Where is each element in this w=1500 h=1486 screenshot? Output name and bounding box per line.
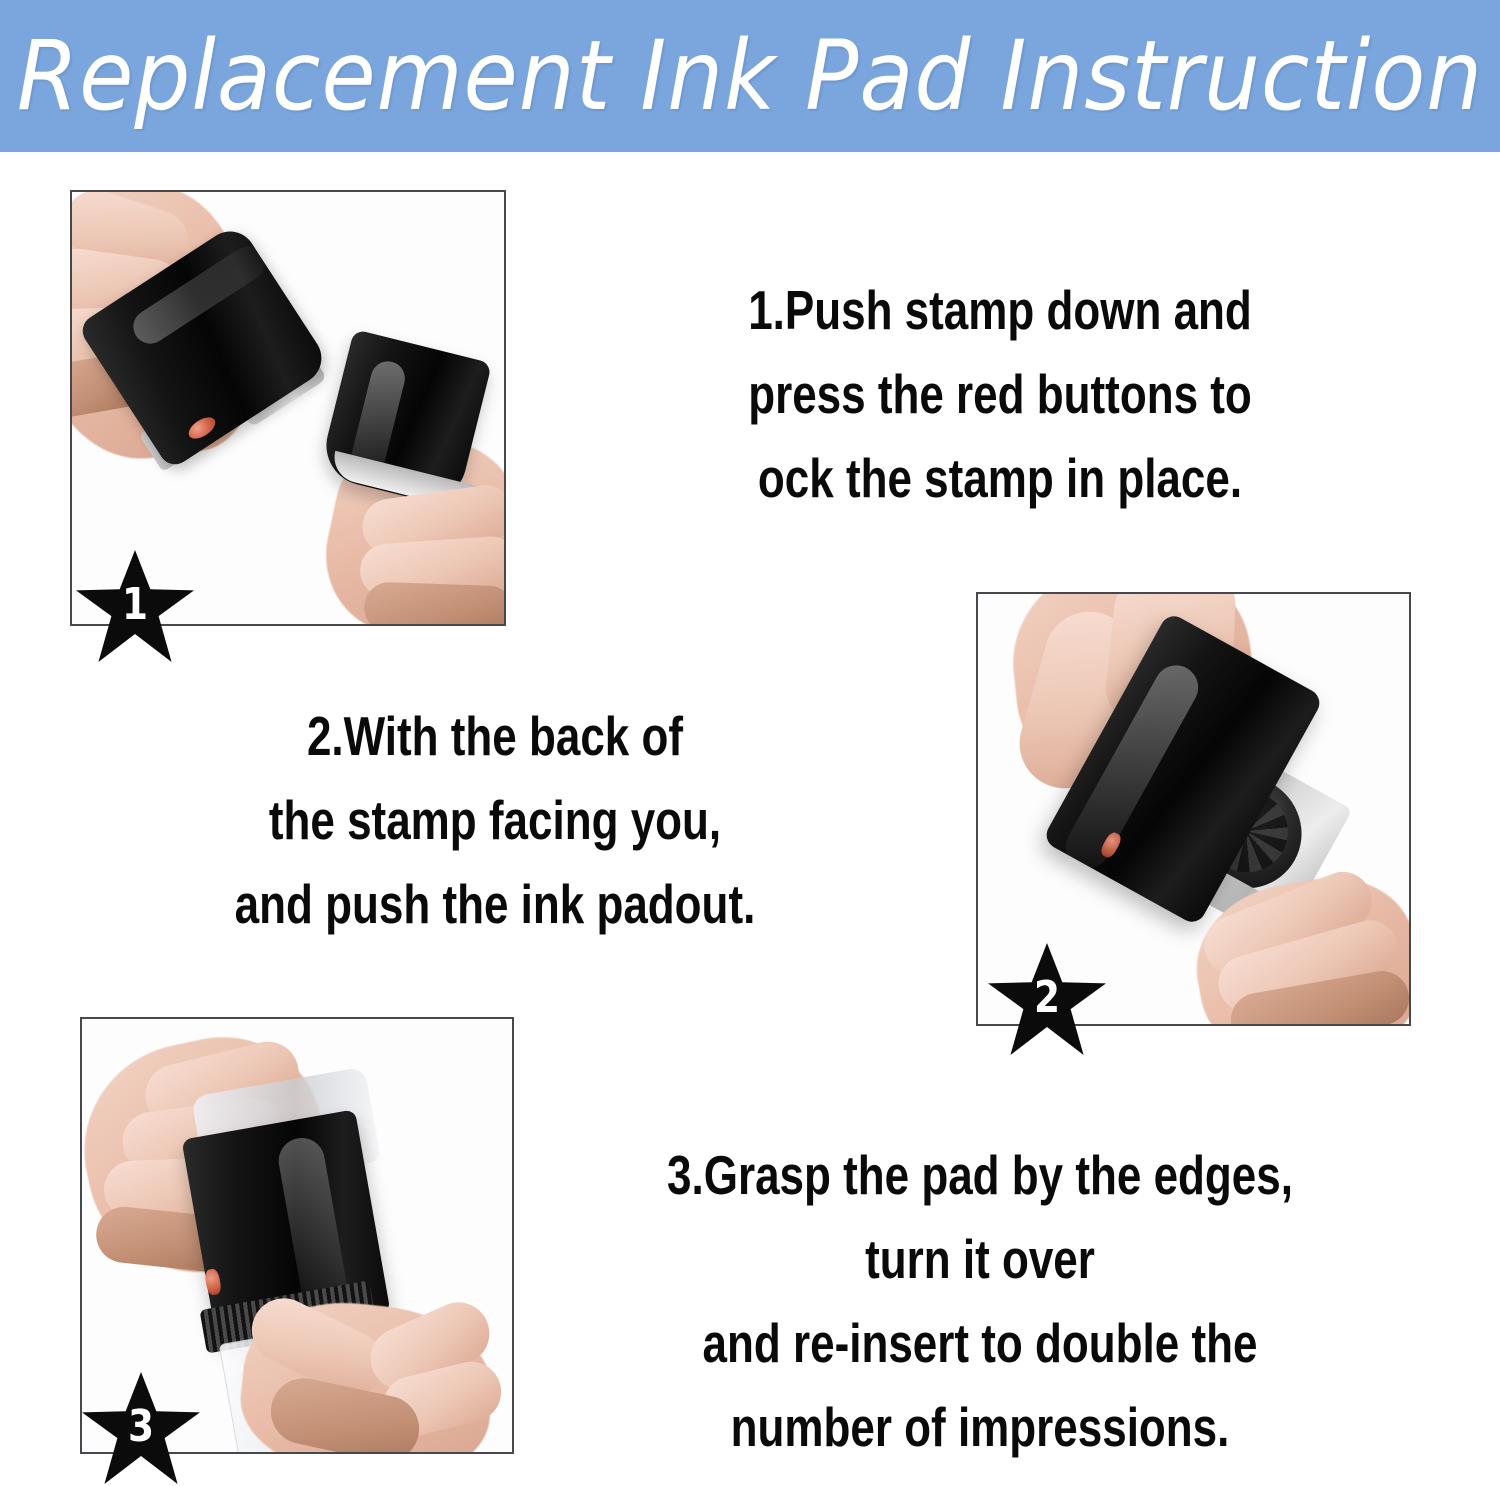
step-2-line-2: the stamp facing you, (143, 778, 847, 862)
step-3-line-3: and re-insert to double the (612, 1301, 1348, 1385)
finger (363, 581, 504, 624)
step-2-line-3: and push the ink padout. (143, 862, 847, 946)
step-2-line-1: 2.With the back of (143, 694, 847, 778)
instruction-sheet: Replacement Ink Pad Instruction (0, 0, 1500, 1486)
step-1-line-3: ock the stamp in place. (648, 436, 1352, 520)
step-3-line-4: number of impressions. (612, 1385, 1348, 1469)
step-badge-1: 1 (76, 550, 194, 662)
step-1-instruction: 1.Push stamp down and press the red butt… (648, 268, 1352, 520)
page-title: Replacement Ink Pad Instruction (60, 0, 1440, 152)
step-badge-2: 2 (988, 943, 1106, 1055)
step-badge-number: 1 (85, 583, 185, 627)
step-1-line-2: press the red buttons to (648, 352, 1352, 436)
step-badge-number: 2 (997, 976, 1097, 1020)
step-3-line-1: 3.Grasp the pad by the edges, (612, 1133, 1348, 1217)
step-2-instruction: 2.With the back of the stamp facing you,… (143, 694, 847, 946)
step-1-line-1: 1.Push stamp down and (648, 268, 1352, 352)
header-banner: Replacement Ink Pad Instruction (0, 0, 1500, 152)
step-badge-3: 3 (82, 1372, 200, 1484)
step-3-instruction: 3.Grasp the pad by the edges, turn it ov… (612, 1133, 1348, 1469)
step-3-line-2: turn it over (612, 1217, 1348, 1301)
step-badge-number: 3 (91, 1405, 191, 1449)
